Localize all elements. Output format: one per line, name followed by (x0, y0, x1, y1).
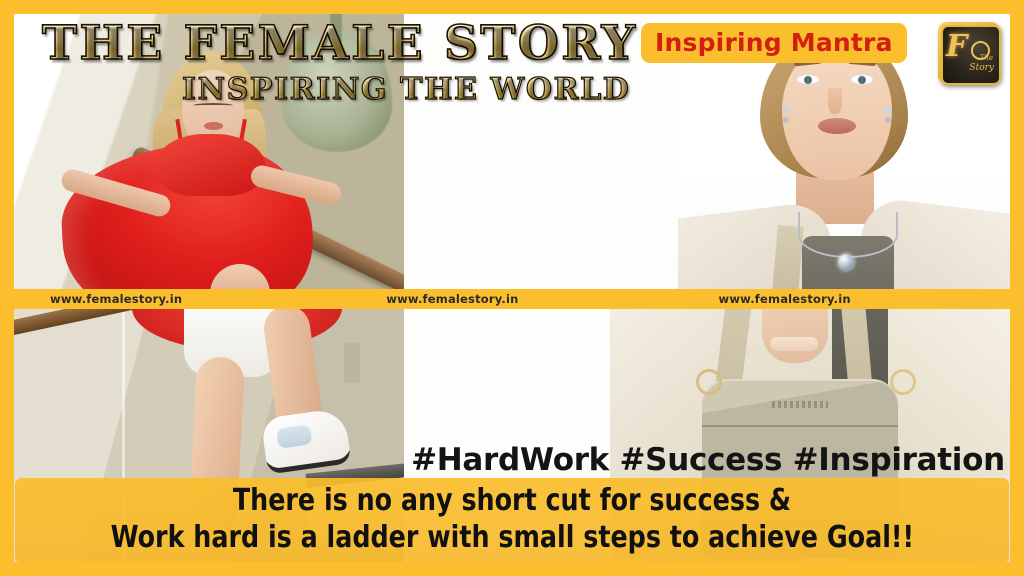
necklace-chain-shape (798, 212, 898, 258)
handbag-hardware-right-shape (890, 369, 916, 395)
handbag-brand-emboss (772, 401, 828, 408)
brand-logo[interactable]: F The Story (938, 22, 1000, 84)
lips-shape (818, 118, 856, 134)
collage-area: www.femalestory.in www.femalestory.in ww… (14, 14, 1010, 562)
watermark-url-right: www.femalestory.in (719, 292, 851, 306)
pendant-lamp-shape (282, 32, 392, 152)
photo-top-left-red-dress (14, 14, 404, 295)
quote-line-2: Work hard is a ladder with small steps t… (110, 520, 913, 557)
logo-text-the: The (980, 54, 993, 62)
logo-inner-plate: F The Story (941, 25, 1001, 85)
necklace-pendant-shape (838, 254, 854, 270)
quote-line-1: There is no any short cut for success & (233, 483, 791, 520)
earring-left-shape (782, 106, 790, 114)
nose-shape (828, 88, 842, 114)
watermark-url-left: www.femalestory.in (50, 292, 182, 306)
poster-canvas: www.femalestory.in www.femalestory.in ww… (0, 0, 1024, 576)
eye-right-shape (850, 74, 874, 85)
eye-left-shape (796, 74, 820, 85)
hashtags-line: #HardWork #Success #Inspiration (14, 442, 1010, 478)
earring-right-shape (884, 106, 892, 114)
logo-text-story: Story (969, 63, 994, 73)
watermark-strip: www.femalestory.in www.femalestory.in ww… (14, 289, 1010, 309)
watermark-url-center: www.femalestory.in (386, 292, 518, 306)
red-dress-bodice-shape (154, 134, 266, 196)
handbag-hardware-left-shape (696, 369, 722, 395)
quote-banner: There is no any short cut for success & … (15, 478, 1009, 562)
logo-monogram-f: F (946, 29, 967, 64)
inspiring-mantra-badge[interactable]: Inspiring Mantra (641, 23, 907, 63)
wall-niche-shape (344, 343, 360, 383)
